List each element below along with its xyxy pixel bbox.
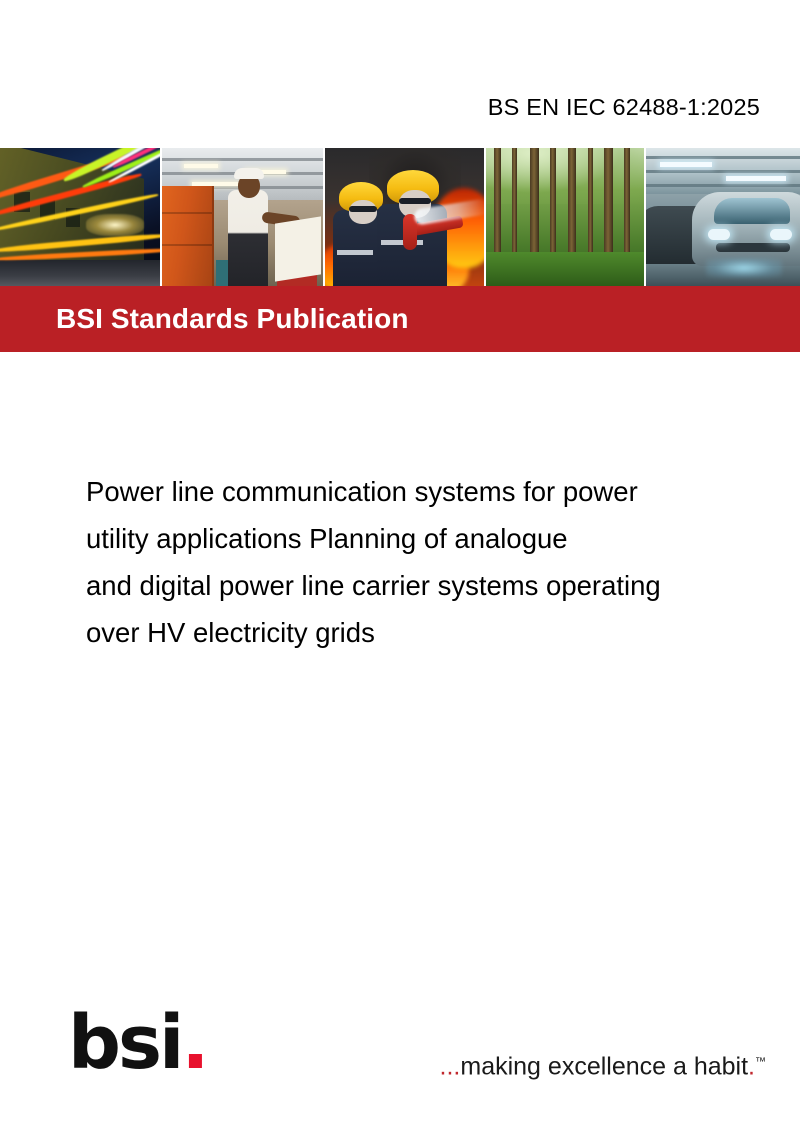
image-panel-warehouse-worker xyxy=(160,148,323,286)
ceiling-beam xyxy=(162,158,323,161)
standard-number: BS EN IEC 62488-1:2025 xyxy=(488,94,760,121)
firefighter-visor xyxy=(349,206,377,212)
banner-title: BSI Standards Publication xyxy=(56,303,409,335)
paper-stack xyxy=(275,216,321,281)
trademark-icon: ™ xyxy=(755,1056,766,1068)
hi-vis-stripe xyxy=(337,250,373,255)
road-surface xyxy=(0,260,160,286)
bsi-logo: bsi. xyxy=(68,1006,207,1080)
forest-canopy xyxy=(486,148,644,204)
headlight-glow xyxy=(86,214,144,236)
worker-torso xyxy=(228,190,268,286)
crate-seam xyxy=(160,212,212,214)
image-panel-night-traffic-light-trails xyxy=(0,148,160,286)
headlight xyxy=(708,229,730,240)
bsi-logo-dot: . xyxy=(181,1000,206,1086)
front-grille xyxy=(716,243,790,252)
windshield xyxy=(714,198,790,224)
firefighter-visor xyxy=(399,198,431,204)
crate-seam xyxy=(160,244,212,246)
floor-light-glow xyxy=(706,258,782,278)
title-line-2: utility applications Planning of analogu… xyxy=(86,515,786,562)
overhead-light xyxy=(660,162,712,167)
tagline-period: . xyxy=(748,1052,755,1080)
worker-cap xyxy=(234,168,264,179)
image-panel-forest xyxy=(484,148,644,286)
bsi-logo-text: bsi xyxy=(68,1000,181,1086)
overhead-light xyxy=(726,176,786,181)
cover-image-strip xyxy=(0,148,800,286)
roof-rafter xyxy=(646,156,800,159)
forest-floor xyxy=(486,252,644,286)
title-line-3: and digital power line carrier systems o… xyxy=(86,562,786,609)
orange-crate-stack xyxy=(160,186,214,286)
image-panel-car-assembly-line xyxy=(644,148,800,286)
roof-rafter xyxy=(646,184,800,187)
standards-publication-banner: BSI Standards Publication xyxy=(0,286,800,352)
title-line-1: Power line communication systems for pow… xyxy=(86,468,786,515)
roof-rafter xyxy=(646,170,800,173)
tagline-ellipsis: ... xyxy=(440,1052,461,1080)
bsi-tagline: ...making excellence a habit.™ xyxy=(440,1048,766,1080)
title-line-4: over HV electricity grids xyxy=(86,609,786,656)
ceiling-light xyxy=(184,164,218,168)
tagline-text: making excellence a habit xyxy=(460,1052,748,1080)
cover-page: BS EN IEC 62488-1:2025 xyxy=(0,0,800,1132)
firefighter-face xyxy=(349,200,377,224)
headlight xyxy=(770,229,792,240)
image-panel-firefighters xyxy=(323,148,484,286)
page-title: Power line communication systems for pow… xyxy=(86,468,786,656)
